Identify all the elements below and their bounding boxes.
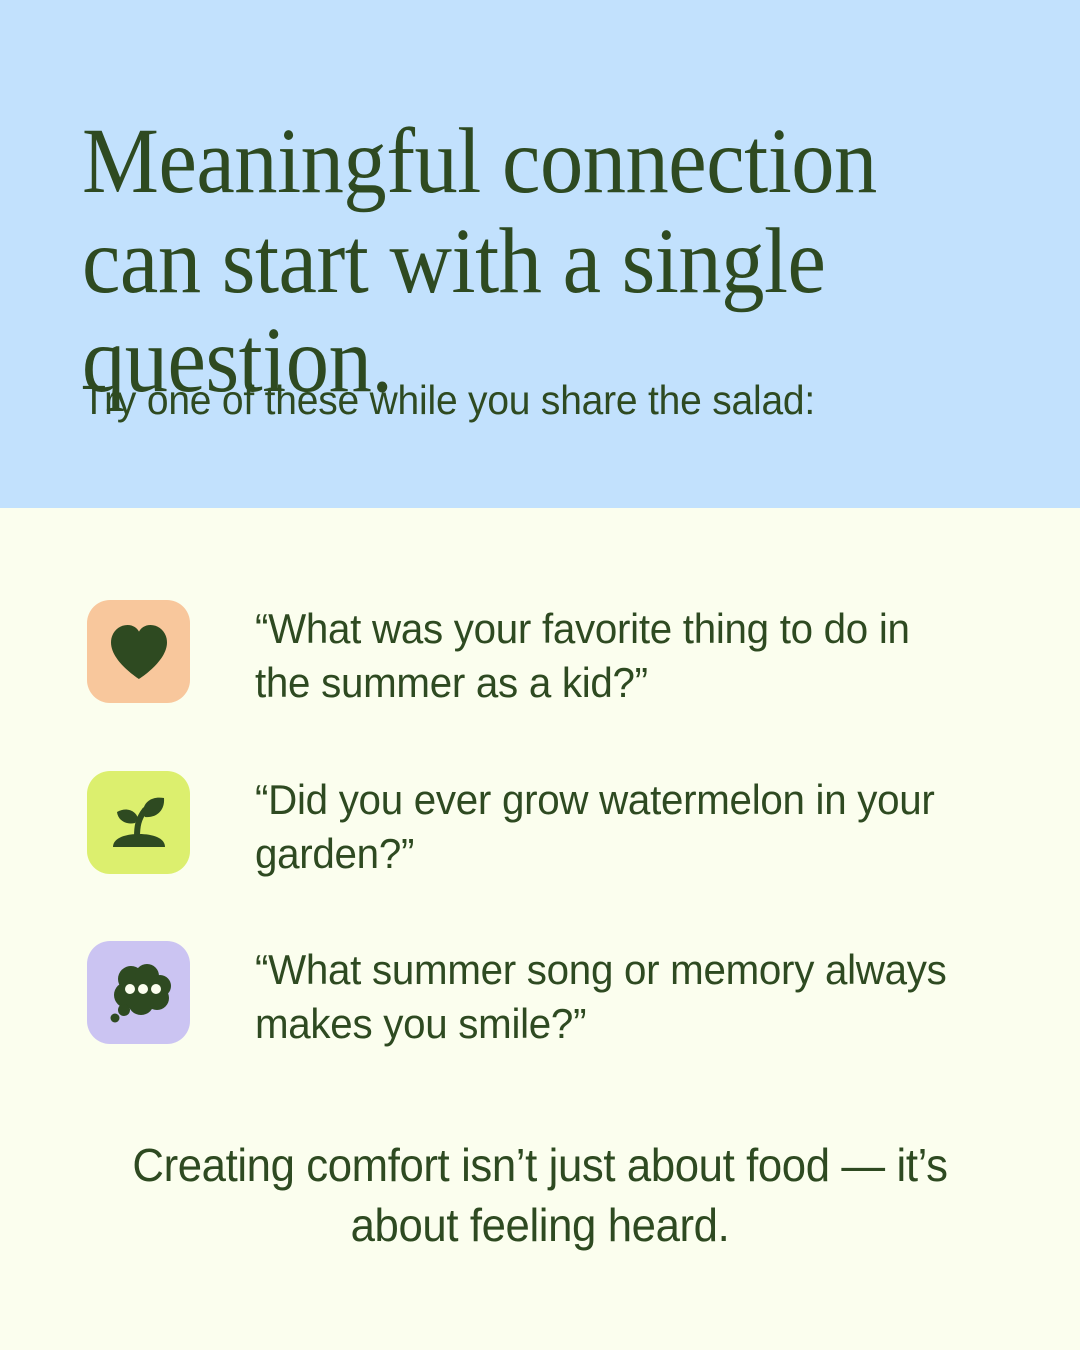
thought-bubble-icon-tile-row: “What summer song or memory always makes… — [87, 941, 993, 1044]
list-item: “What was your favorite thing to do in t… — [87, 600, 993, 703]
heart-icon — [108, 623, 170, 681]
seedling-icon-tile — [87, 771, 190, 874]
poster-canvas: Meaningful connection can start with a s… — [0, 0, 1080, 1350]
page-title: Meaningful connection can start with a s… — [82, 112, 947, 411]
list-item: “Did you ever grow watermelon in your ga… — [87, 771, 993, 874]
heart-icon-tile — [87, 600, 190, 703]
question-text: “Did you ever grow watermelon in your ga… — [255, 771, 963, 881]
subtitle: Try one of these while you share the sal… — [82, 376, 985, 425]
header-band: Meaningful connection can start with a s… — [0, 0, 1080, 508]
question-text: “What summer song or memory always makes… — [255, 941, 963, 1051]
seedling-icon — [107, 793, 171, 853]
question-text: “What was your favorite thing to do in t… — [255, 600, 963, 710]
thought-bubble-icon-tile — [87, 941, 190, 1044]
thought-bubble-icon — [105, 962, 173, 1024]
body-area: “What was your favorite thing to do in t… — [0, 508, 1080, 1350]
closing-statement: Creating comfort isn’t just about food —… — [84, 1136, 996, 1256]
